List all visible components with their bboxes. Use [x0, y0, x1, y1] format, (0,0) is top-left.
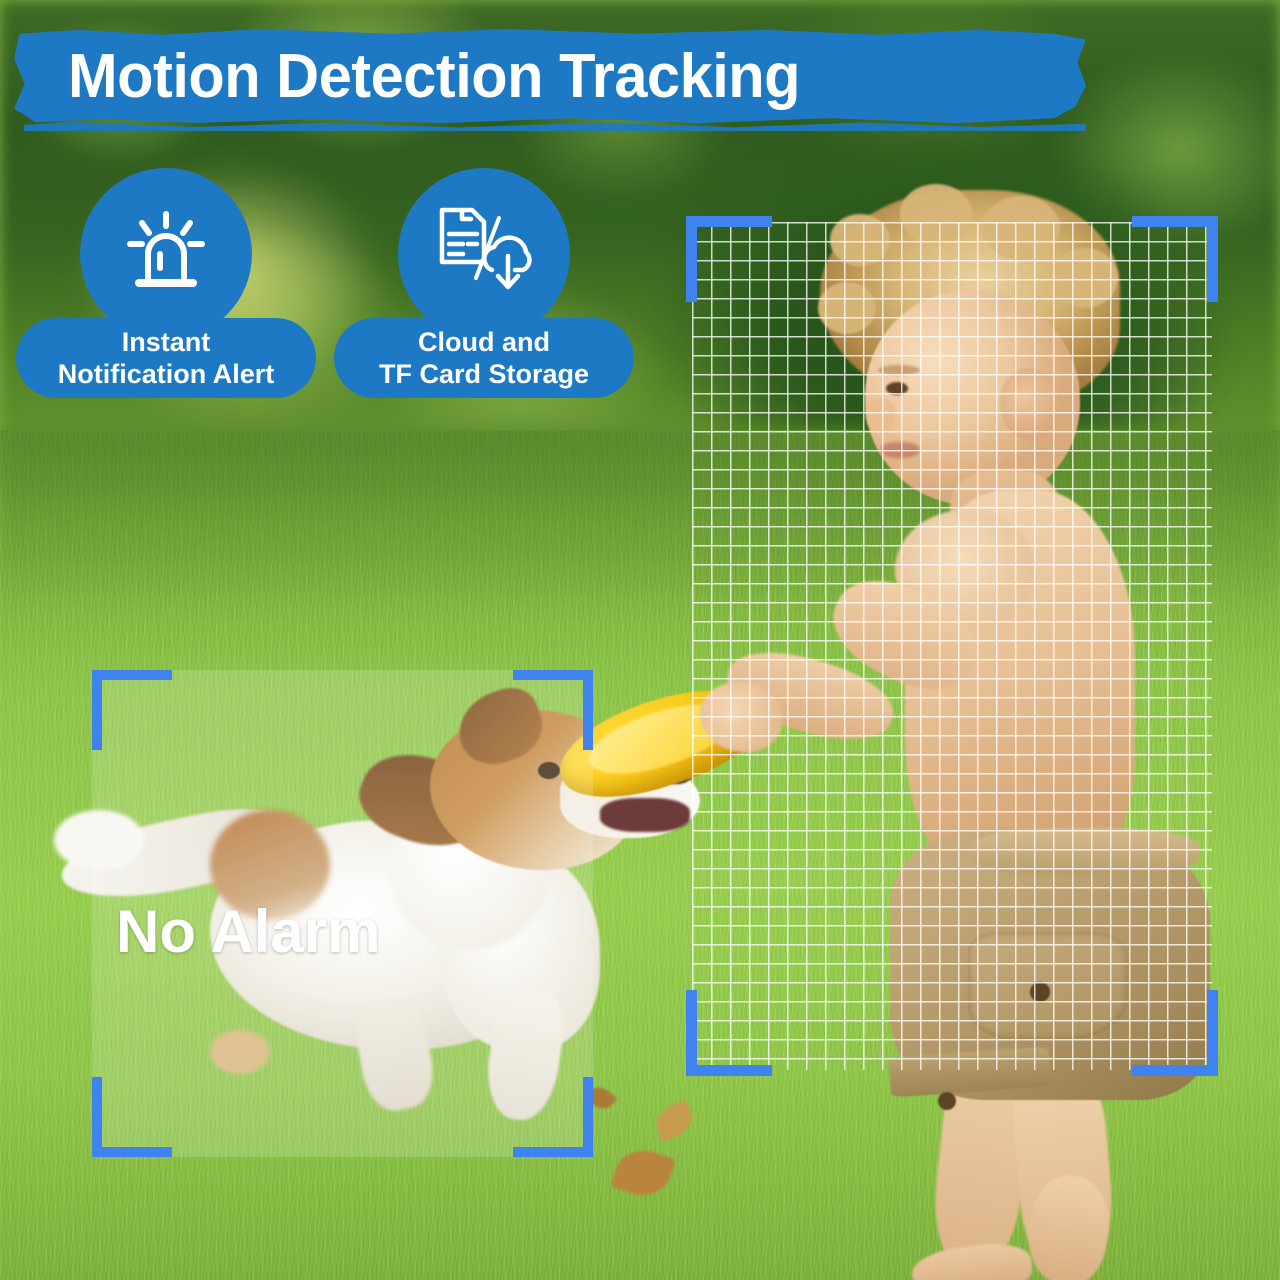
- badge-instant-notification-alert[interactable]: Instant Notification Alert: [16, 168, 316, 398]
- no-alarm-corner-bottom-left: [92, 1077, 172, 1157]
- dog-mouth: [600, 798, 690, 832]
- badge-label-line1: Cloud and: [418, 326, 550, 358]
- tracking-corner-bottom-left: [686, 990, 772, 1076]
- badge-label-pill: Instant Notification Alert: [16, 318, 316, 398]
- alarm-siren-icon: [118, 204, 214, 305]
- tracking-corner-bottom-right: [1132, 990, 1218, 1076]
- badge-label-line1: Instant: [122, 326, 211, 358]
- badge-label-pill: Cloud and TF Card Storage: [334, 318, 634, 398]
- badge-icon-circle: [398, 168, 570, 340]
- feature-badges: Instant Notification Alert: [16, 168, 634, 398]
- tracking-corner-top-right: [1132, 216, 1218, 302]
- no-alarm-label: No Alarm: [116, 900, 381, 964]
- badge-icon-circle: [80, 168, 252, 340]
- badge-cloud-tf-card-storage[interactable]: Cloud and TF Card Storage: [334, 168, 634, 398]
- page-title: Motion Detection Tracking: [68, 42, 1026, 112]
- document-cloud-download-icon: [432, 204, 536, 305]
- no-alarm-corner-bottom-right: [513, 1077, 593, 1157]
- no-alarm-corner-top-left: [92, 670, 172, 750]
- title-banner: Motion Detection Tracking: [14, 28, 1086, 124]
- motion-tracking-box[interactable]: [692, 222, 1212, 1070]
- badge-label-line2: Notification Alert: [58, 358, 275, 390]
- no-alarm-corner-top-right: [513, 670, 593, 750]
- badge-label-line2: TF Card Storage: [379, 358, 589, 390]
- child-shorts-button: [938, 1092, 956, 1110]
- tracking-corner-top-left: [686, 216, 772, 302]
- tracking-grid-overlay: [692, 222, 1212, 1070]
- product-feature-image: No Alarm Motion Detection Tracking: [0, 0, 1280, 1280]
